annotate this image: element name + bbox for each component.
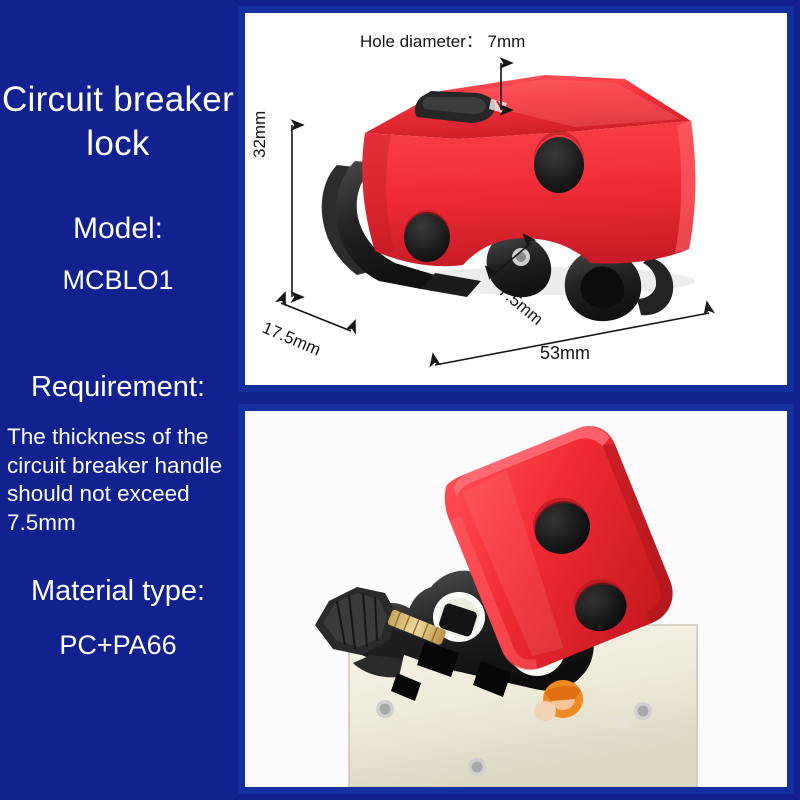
requirement-description: The thickness of the circuit breaker han…	[7, 423, 233, 537]
annotation-depth: 17.5mm	[259, 318, 323, 360]
product-spec-banner: Circuit breaker lock Model: MCBLO1 Requi…	[0, 0, 800, 800]
material-label: Material type:	[0, 574, 236, 608]
annotation-hole-diameter: Hole diameter： 7mm	[360, 27, 525, 52]
dimension-stage: Hole diameter： 7mm 32mm 17.5mm 7.5mm 53m…	[245, 13, 787, 385]
product-illustration-bottom	[245, 411, 787, 787]
model-label: Model:	[0, 212, 236, 246]
product-illustration-top	[245, 13, 787, 385]
installation-stage	[245, 411, 787, 787]
installation-panel	[238, 404, 794, 794]
requirement-label: Requirement:	[0, 370, 236, 404]
material-value: PC+PA66	[0, 629, 236, 661]
annotation-length: 53mm	[540, 343, 590, 364]
annotation-handle-slot: 7.5mm	[494, 281, 547, 330]
model-value: MCBLO1	[0, 264, 236, 296]
info-sidebar: Circuit breaker lock Model: MCBLO1 Requi…	[0, 0, 236, 800]
dimension-panel: Hole diameter： 7mm 32mm 17.5mm 7.5mm 53m…	[238, 6, 794, 392]
annotation-height: 32mm	[250, 111, 270, 158]
page-title: Circuit breaker lock	[0, 78, 236, 166]
